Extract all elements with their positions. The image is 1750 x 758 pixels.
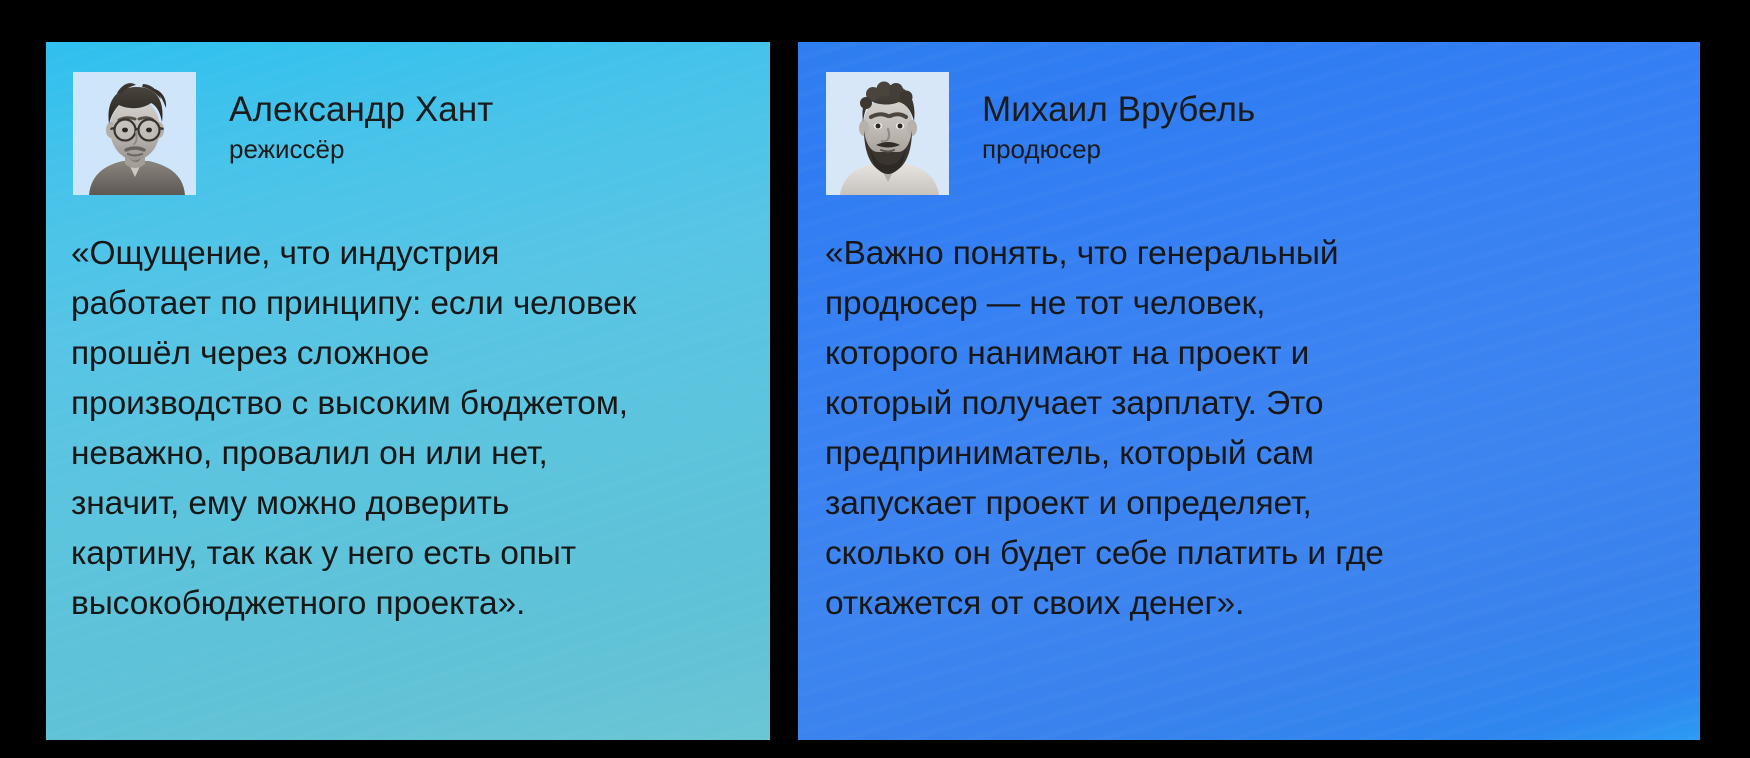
person-name: Михаил Врубель — [982, 90, 1255, 129]
person-text: Михаил Врубель продюсер — [982, 72, 1255, 167]
quote-text: «Ощущение, что индустрия работает по при… — [71, 229, 761, 629]
quote-text: «Важно понять, что генеральный продюсер … — [825, 229, 1685, 629]
person-name: Александр Хант — [229, 90, 493, 129]
person-header: Михаил Врубель продюсер — [798, 42, 1700, 195]
quote-card-alexandr-hant: Александр Хант режиссёр «Ощущение, что и… — [46, 42, 770, 740]
person-role: режиссёр — [229, 132, 493, 167]
avatar — [826, 72, 949, 195]
person-text: Александр Хант режиссёр — [229, 72, 493, 167]
avatar — [73, 72, 196, 195]
quote-card-mihail-vrubel: Михаил Врубель продюсер «Важно понять, ч… — [798, 42, 1700, 740]
person-header: Александр Хант режиссёр — [46, 42, 770, 195]
portrait-photo-man-with-glasses-icon — [73, 72, 196, 195]
slide-canvas: Александр Хант режиссёр «Ощущение, что и… — [0, 0, 1750, 758]
portrait-photo-bearded-man-icon — [826, 72, 949, 195]
person-role: продюсер — [982, 132, 1255, 167]
